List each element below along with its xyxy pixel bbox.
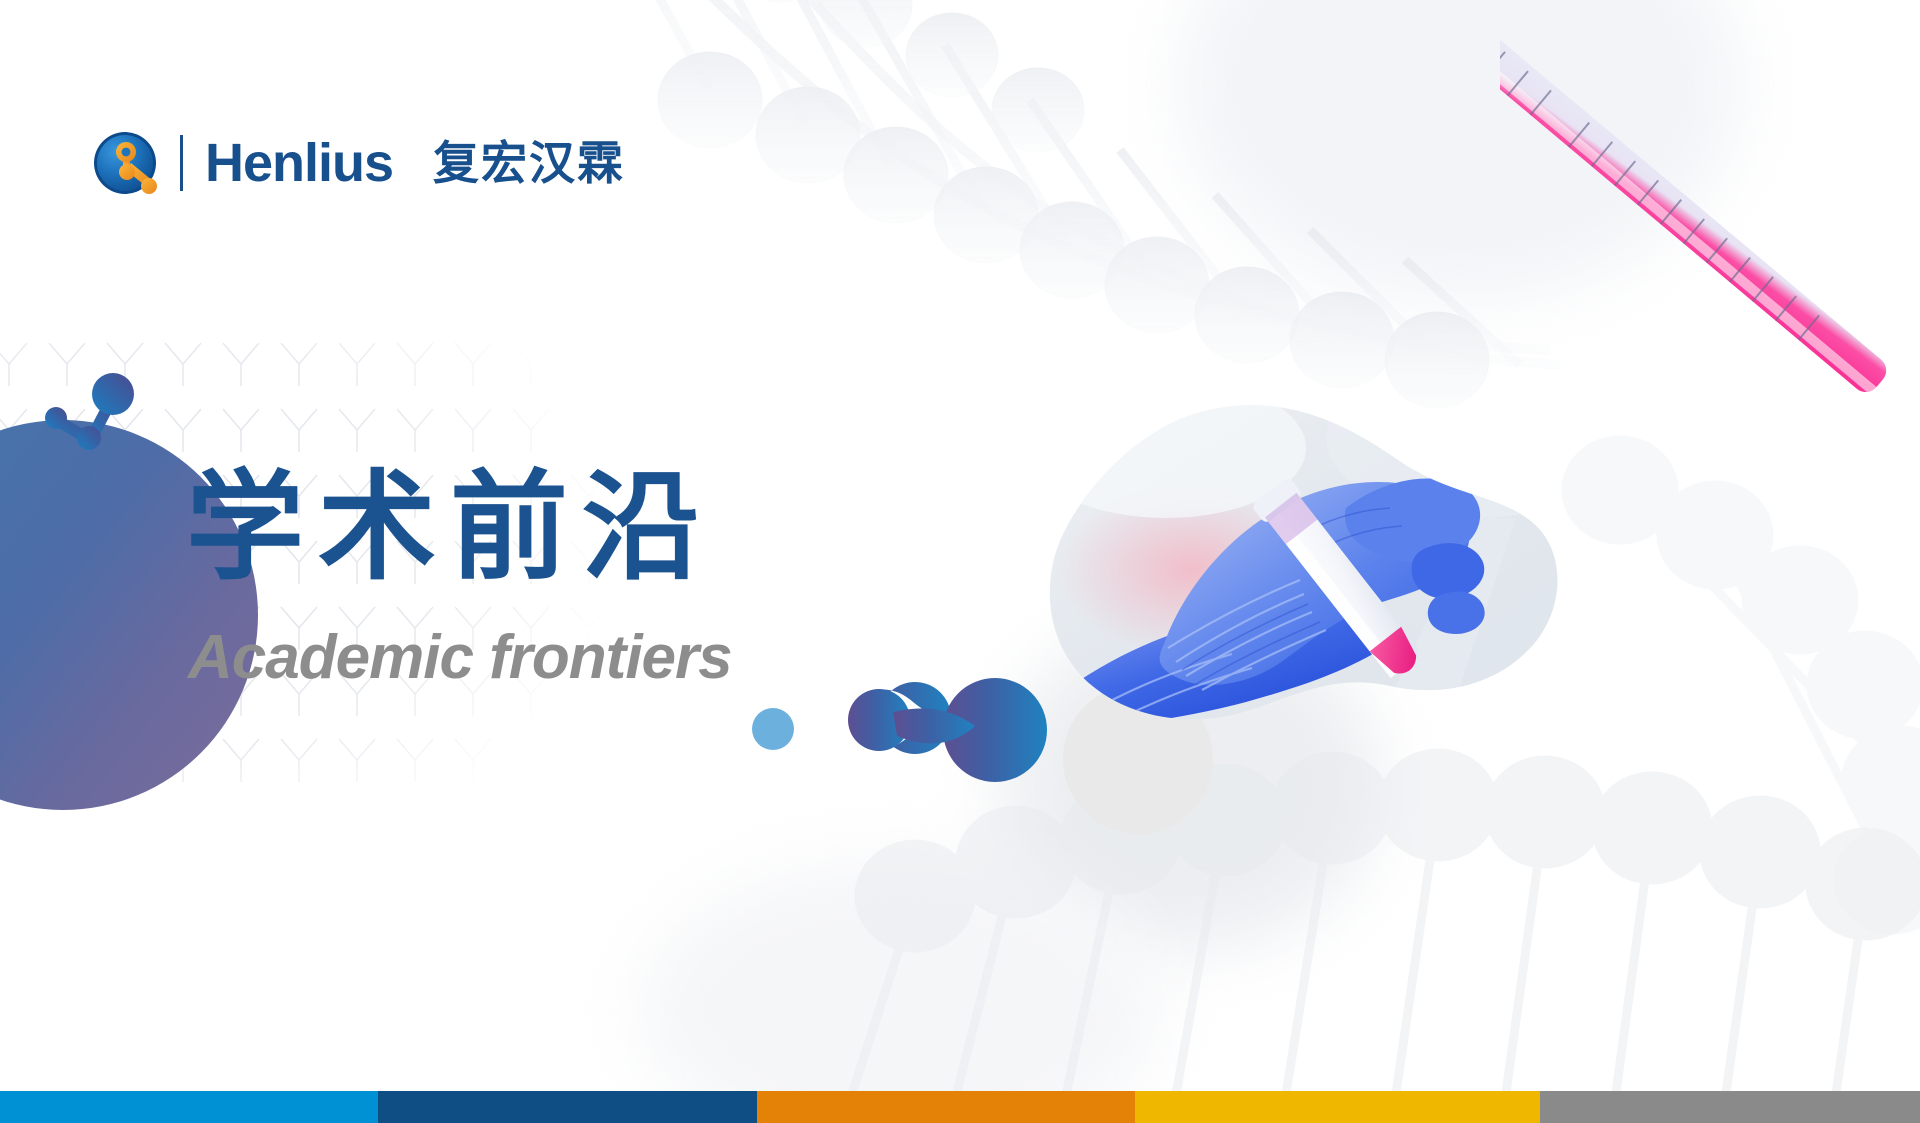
graduated-pipette-with-pink-liquid [1500, 30, 1920, 460]
henlius-logo[interactable]: Henlius 复宏汉霖 [92, 128, 625, 198]
gloved-hand-holding-test-tube-photo [1046, 398, 1566, 728]
segment-grey [1540, 1091, 1920, 1123]
logo-wordmark: Henlius [205, 136, 393, 190]
slide-canvas: Henlius 复宏汉霖 学术前沿 Academic frontiers [0, 0, 1920, 1123]
segment-light-blue [0, 1091, 378, 1123]
segment-orange [757, 1091, 1135, 1123]
segment-yellow [1135, 1091, 1540, 1123]
logo-chinese-name: 复宏汉霖 [433, 140, 625, 186]
dot-light-blue-icon [752, 708, 794, 750]
molecule-three-node-icon [40, 368, 160, 468]
page-title-chinese: 学术前沿 [186, 468, 714, 586]
segment-dark-blue [378, 1091, 757, 1123]
logo-divider [180, 135, 183, 191]
bottom-color-bar [0, 1091, 1920, 1123]
henlius-molecule-mark-icon [92, 130, 158, 196]
page-subtitle-english: Academic frontiers [188, 627, 732, 689]
metaball-dumbbell-icon [835, 676, 1055, 786]
gloved-hand-photo-blob [1046, 398, 1566, 728]
